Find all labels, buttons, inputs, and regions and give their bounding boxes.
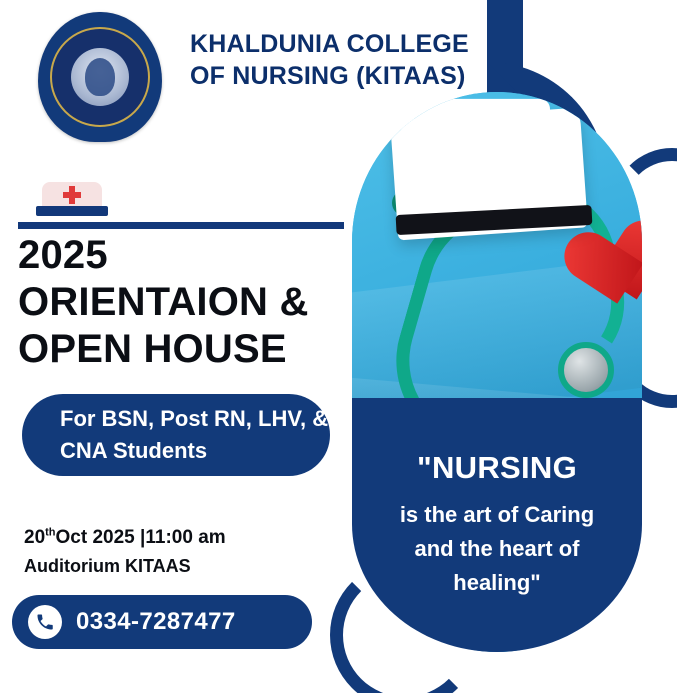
audience-badge: For BSN, Post RN, LHV, & CNA Students bbox=[22, 394, 330, 476]
quote-body: is the art of Caring and the heart of he… bbox=[400, 498, 594, 600]
crest-icon bbox=[71, 48, 129, 106]
medical-cross-icon-bar bbox=[63, 192, 81, 198]
college-name-title: KHALDUNIA COLLEGE OF NURSING (KITAAS) bbox=[190, 28, 490, 92]
page-title: 2025 ORIENTAION & OPEN HOUSE bbox=[18, 232, 348, 374]
event-title: ORIENTAION & OPEN HOUSE bbox=[18, 280, 309, 371]
divider-rule bbox=[18, 222, 344, 229]
quote-panel: "NURSING is the art of Caring and the he… bbox=[352, 398, 642, 652]
nurse-cap-badge-band bbox=[36, 206, 108, 216]
logo-icon bbox=[50, 27, 150, 127]
poster-canvas: KHALDUNIA COLLEGE OF NURSING (KITAAS) "N… bbox=[0, 0, 677, 693]
quote-line-1: "NURSING bbox=[417, 450, 577, 486]
phone-number-label: 0334-7287477 bbox=[76, 608, 236, 636]
event-time: 11:00 am bbox=[145, 527, 225, 548]
event-venue: Auditorium KITAAS bbox=[24, 553, 344, 580]
quote-line-3: and the heart of bbox=[400, 532, 594, 566]
phone-icon bbox=[28, 605, 62, 639]
event-details: 20thOct 2025 |11:00 am Auditorium KITAAS bbox=[24, 524, 344, 580]
stethoscope-chestpiece-icon bbox=[558, 342, 614, 398]
event-date-rest: Oct 2025 bbox=[56, 527, 135, 548]
quote-line-4: healing" bbox=[400, 566, 594, 600]
event-date-suffix: th bbox=[45, 527, 55, 539]
audience-label: For BSN, Post RN, LHV, & CNA Students bbox=[60, 403, 330, 467]
event-year: 2025 bbox=[18, 232, 348, 279]
event-date-day: 20 bbox=[24, 527, 45, 548]
contact-phone-button[interactable]: 0334-7287477 bbox=[12, 595, 312, 649]
college-logo-badge bbox=[38, 12, 162, 142]
quote-line-2: is the art of Caring bbox=[400, 498, 594, 532]
nurse-cap-badge-icon bbox=[36, 182, 108, 218]
